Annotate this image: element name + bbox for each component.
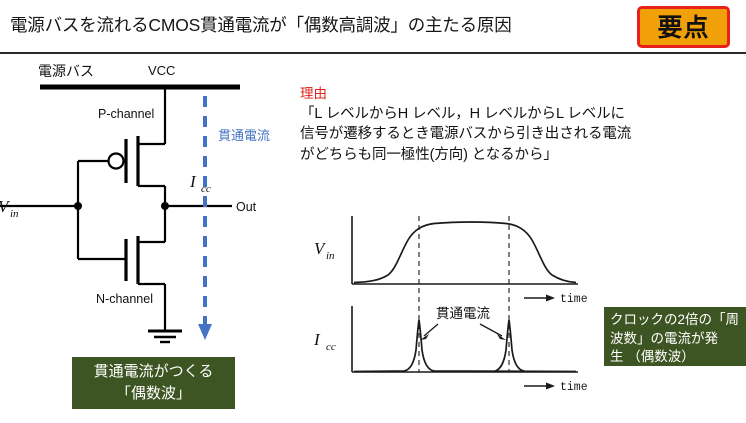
vcc-label: VCC <box>148 63 175 78</box>
out-label: Out <box>236 200 257 214</box>
pmos-gate-bubble-icon <box>109 154 124 169</box>
waveform-plots: V in time I cc 貫通電流 time <box>308 214 638 394</box>
caption-box-right: クロックの2倍の「周 波数」の電流が発 生 （偶数波） <box>604 307 746 366</box>
power-bus-label: 電源バス <box>38 63 94 79</box>
through-current-arrowhead-icon <box>198 324 212 340</box>
spike-arrow-right-head-icon <box>497 334 506 340</box>
waveform-icc-label-sub: cc <box>326 341 336 353</box>
page-title: 電源バスを流れるCMOS貫通電流が「偶数高調波」の主たる原因 <box>10 12 512 37</box>
vin-time-arrowhead-icon <box>546 295 555 302</box>
vin-waveform-curve <box>354 222 576 283</box>
reason-line-2: 信号が遷移するとき電源バスから引き出される電流 <box>300 124 746 145</box>
caption-left-line-1: 貫通電流がつくる <box>80 361 227 383</box>
reason-label: 理由 <box>300 86 746 103</box>
spike-arrow-left-line <box>424 324 438 336</box>
waveform-icc-label: I <box>313 330 321 349</box>
caption-right-line-1: クロックの2倍の「周 <box>610 311 741 330</box>
icc-label: I <box>189 172 197 191</box>
spike-arrow-right-line <box>480 324 502 336</box>
pmos-label: P-channel <box>98 107 154 121</box>
cmos-inverter-circuit: 電源バス VCC P-channel V in Out I cc <box>0 56 300 366</box>
icc-time-label: time <box>560 381 588 394</box>
vin-label-sub: in <box>10 208 19 220</box>
slide-header: 電源バスを流れるCMOS貫通電流が「偶数高調波」の主たる原因 要点 <box>0 0 746 52</box>
waveform-vin-label-sub: in <box>326 250 335 262</box>
reason-line-3: がどちらも同一極性(方向) となるから」 <box>300 145 746 166</box>
header-divider <box>0 52 746 54</box>
caption-box-left: 貫通電流がつくる 「偶数波」 <box>72 357 235 409</box>
reason-line-1: 「L レベルからH レベル，H レベルからL レベルに <box>300 104 746 125</box>
spike-annotation-label: 貫通電流 <box>436 306 490 321</box>
reason-block: 理由 「L レベルからH レベル，H レベルからL レベルに 信号が遷移するとき… <box>300 86 746 166</box>
through-current-circuit-label: 貫通電流 <box>218 128 270 143</box>
caption-right-line-3: 生 （偶数波） <box>610 348 741 367</box>
icc-spike-curve-left <box>354 320 576 372</box>
nmos-label: N-channel <box>96 292 153 306</box>
icc-time-arrowhead-icon <box>546 383 555 390</box>
keypoint-badge: 要点 <box>637 6 730 48</box>
slide-root: 電源バスを流れるCMOS貫通電流が「偶数高調波」の主たる原因 要点 理由 「L … <box>0 0 746 423</box>
vin-time-label: time <box>560 293 588 306</box>
caption-right-line-2: 波数」の電流が発 <box>610 330 741 349</box>
keypoint-badge-label: 要点 <box>657 15 709 40</box>
caption-left-line-2: 「偶数波」 <box>80 383 227 405</box>
